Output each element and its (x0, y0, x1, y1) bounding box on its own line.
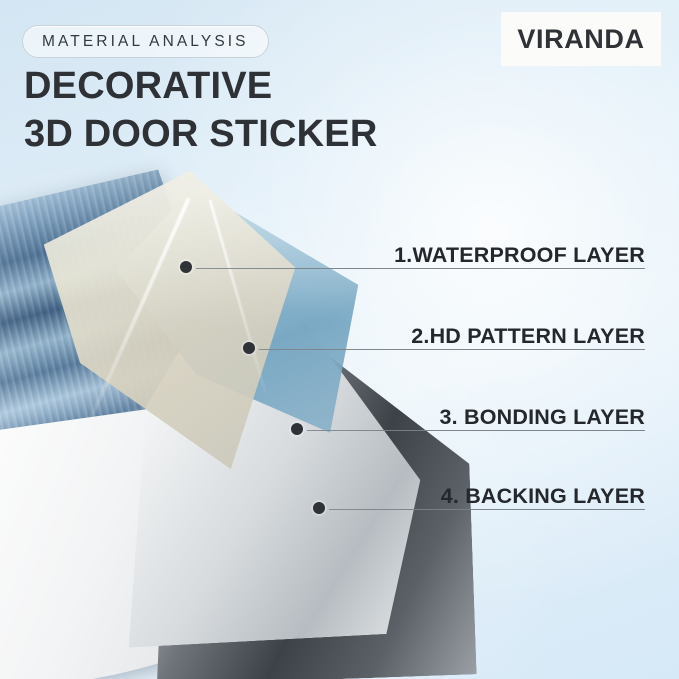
title-line-2: 3D DOOR STICKER (24, 111, 377, 159)
callout-label-3: 3. BONDING LAYER (440, 405, 646, 430)
callout-rule-1 (196, 268, 645, 269)
eyebrow-badge: MATERIAL ANALYSIS (22, 25, 269, 58)
eyebrow-label: MATERIAL ANALYSIS (42, 33, 249, 51)
brand-logo-box: VIRANDA (501, 12, 661, 66)
callout-dot-4 (313, 502, 325, 514)
callout-label-2: 2.HD PATTERN LAYER (411, 324, 645, 349)
title-line-1: DECORATIVE (24, 63, 377, 111)
material-analysis-infographic: MATERIAL ANALYSIS DECORATIVE 3D DOOR STI… (0, 0, 679, 679)
callout-rule-3 (307, 430, 645, 431)
callout-dot-3 (291, 423, 303, 435)
callout-label-4: 4. BACKING LAYER (441, 484, 645, 509)
page-title: DECORATIVE 3D DOOR STICKER (24, 63, 377, 158)
callout-rule-2 (259, 349, 645, 350)
callout-dot-1 (180, 261, 192, 273)
callout-label-1: 1.WATERPROOF LAYER (394, 243, 645, 268)
callout-dot-2 (243, 342, 255, 354)
callout-rule-4 (329, 509, 645, 510)
brand-name: VIRANDA (517, 24, 644, 55)
layer-stack-illustration (0, 170, 430, 679)
